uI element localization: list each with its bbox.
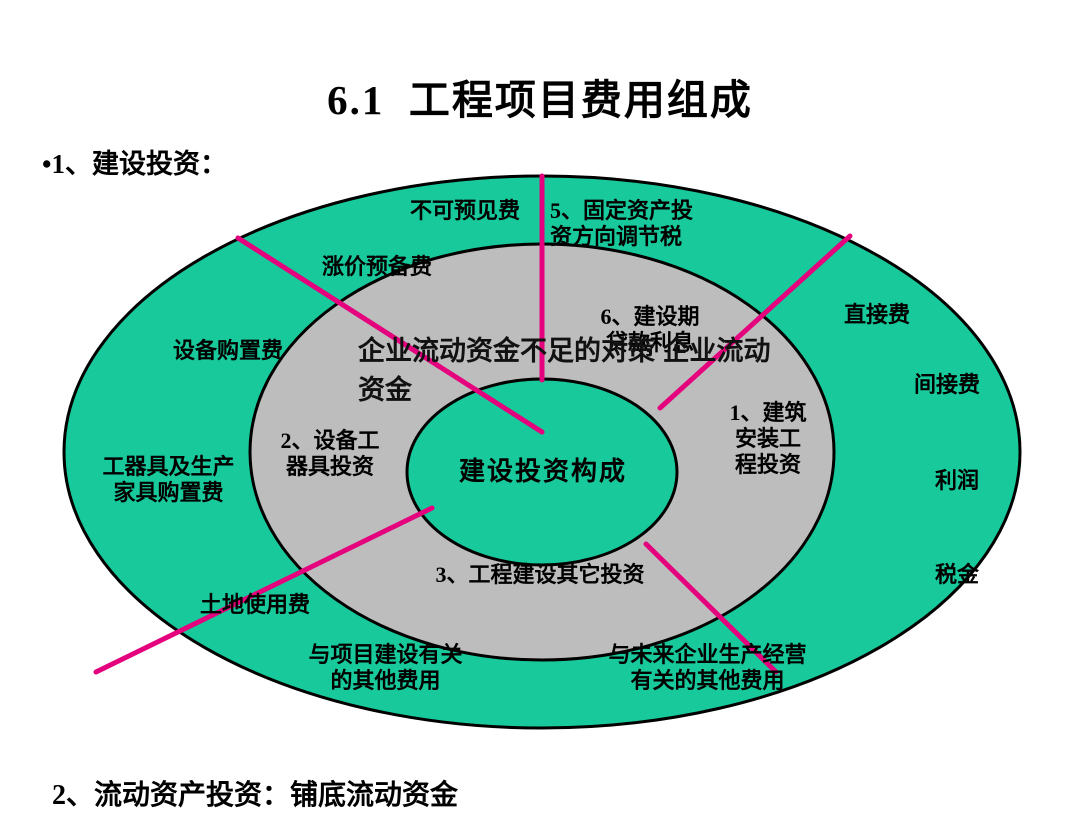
- outer-label-zhangjia[interactable]: 涨价预备费: [282, 254, 472, 280]
- outer-label-shuijin[interactable]: 税金: [902, 562, 1012, 588]
- outer-label-xiangmu[interactable]: 与项目建设有关 的其他费用: [278, 642, 493, 694]
- concentric-ring-diagram: 不可预见费 涨价预备费 设备购置费 工器具及生产 家具购置费 土地使用费 与项目…: [60, 172, 1025, 732]
- outer-label-weilai[interactable]: 与未来企业生产经营 有关的其他费用: [570, 642, 845, 694]
- page-title: 6.1 工程项目费用组成: [0, 66, 1080, 126]
- outer-label-gongqiju[interactable]: 工器具及生产 家具购置费: [76, 454, 261, 506]
- outer-label-shebei[interactable]: 设备购置费: [138, 338, 318, 364]
- core-label-construction-investment-composition[interactable]: 建设投资构成: [412, 457, 674, 488]
- outer-label-bukeyujian[interactable]: 不可预见费: [370, 198, 560, 224]
- middle-label-2-equipment-tools[interactable]: 2、设备工 器具投资: [260, 428, 400, 480]
- diagram-svg: [60, 172, 1025, 732]
- middle-label-5-fixed-asset-tax[interactable]: 5、固定资产投 资方向调节税: [550, 198, 760, 250]
- slide-canvas: 6.1 工程项目费用组成 •1、建设投资：: [0, 0, 1080, 810]
- outer-label-tudi[interactable]: 土地使用费: [170, 592, 340, 618]
- overlay-watermark-text: 企业流动资金不足的对策 企业流动资金: [358, 332, 788, 410]
- outer-label-jianjiefei[interactable]: 间接费: [882, 372, 1012, 398]
- middle-label-1-construction-installation[interactable]: 1、建筑 安装工 程投资: [708, 400, 828, 478]
- outer-label-zhijiefei[interactable]: 直接费: [812, 302, 942, 328]
- outer-label-lirun[interactable]: 利润: [902, 468, 1012, 494]
- bullet-working-capital-investment: 2、流动资产投资：铺底流动资金: [52, 773, 458, 813]
- middle-label-3-other-construction-investment[interactable]: 3、工程建设其它投资: [390, 562, 690, 588]
